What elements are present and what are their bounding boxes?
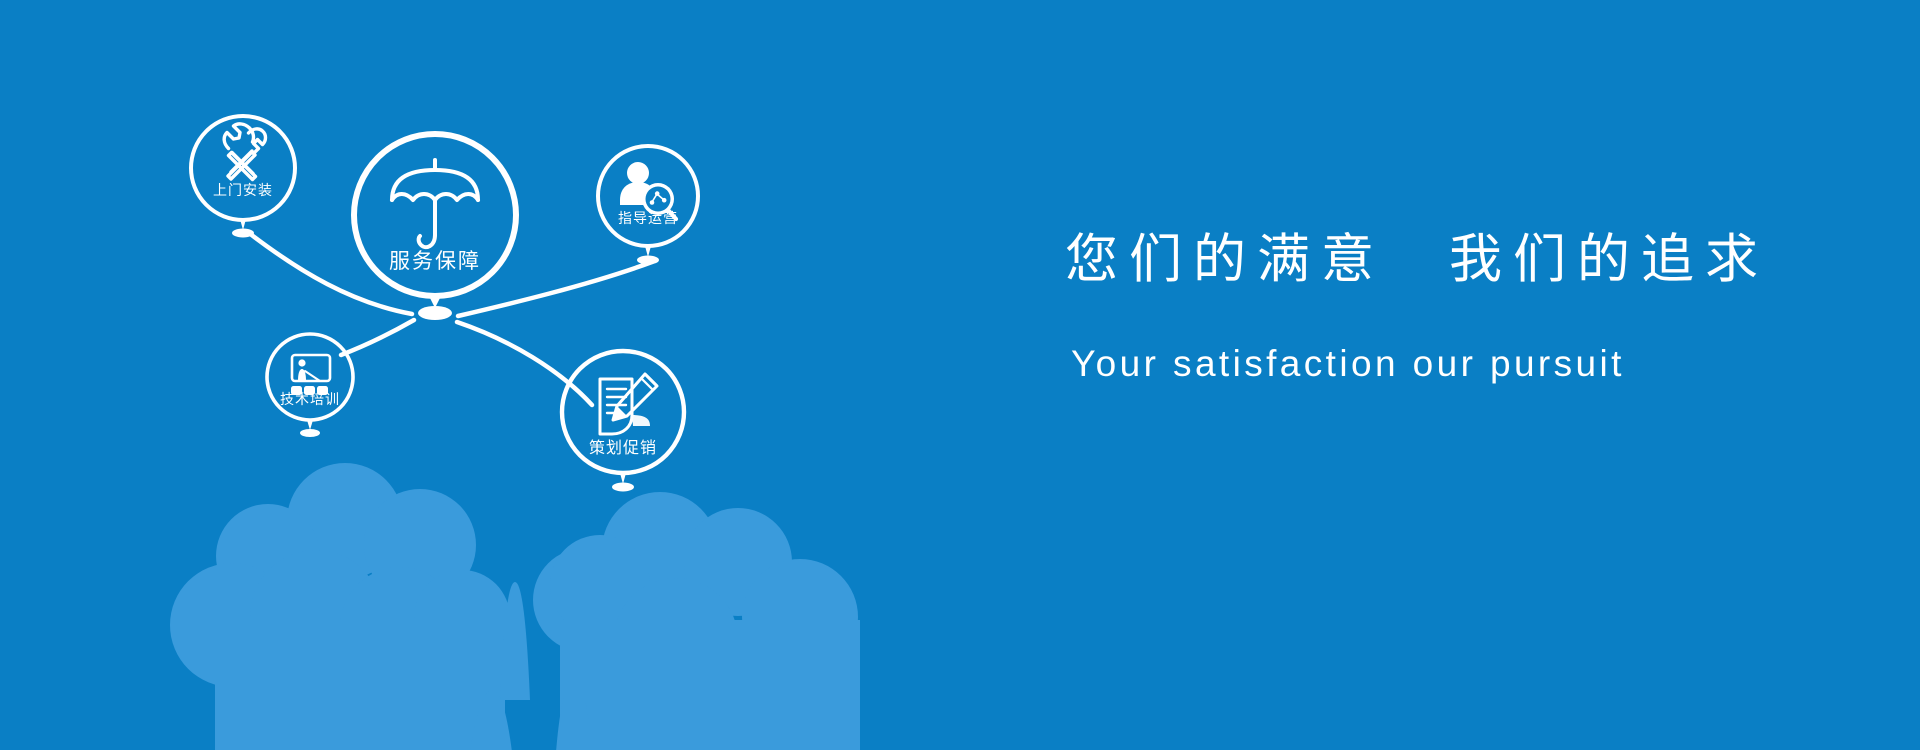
node-promotion-planning-label: 策划促销 — [589, 434, 657, 458]
service-banner: 上门安装 服务保障 指导运营 技术培训 策划促销 您们的满意 我们的追求 You… — [0, 0, 1920, 750]
text-layer: 上门安装 服务保障 指导运营 技术培训 策划促销 您们的满意 我们的追求 You… — [0, 0, 1920, 750]
node-install-label: 上门安装 — [213, 180, 273, 200]
subhead-english: Your satisfaction our pursuit — [1071, 343, 1845, 385]
node-service-guarantee-label: 服务保障 — [389, 245, 481, 275]
node-operations-guidance-label: 指导运营 — [618, 208, 678, 228]
marketing-copy: 您们的满意 我们的追求 Your satisfaction our pursui… — [1065, 230, 1845, 385]
headline-chinese: 您们的满意 我们的追求 — [1065, 230, 1845, 291]
node-technical-training-label: 技术培训 — [280, 389, 340, 409]
